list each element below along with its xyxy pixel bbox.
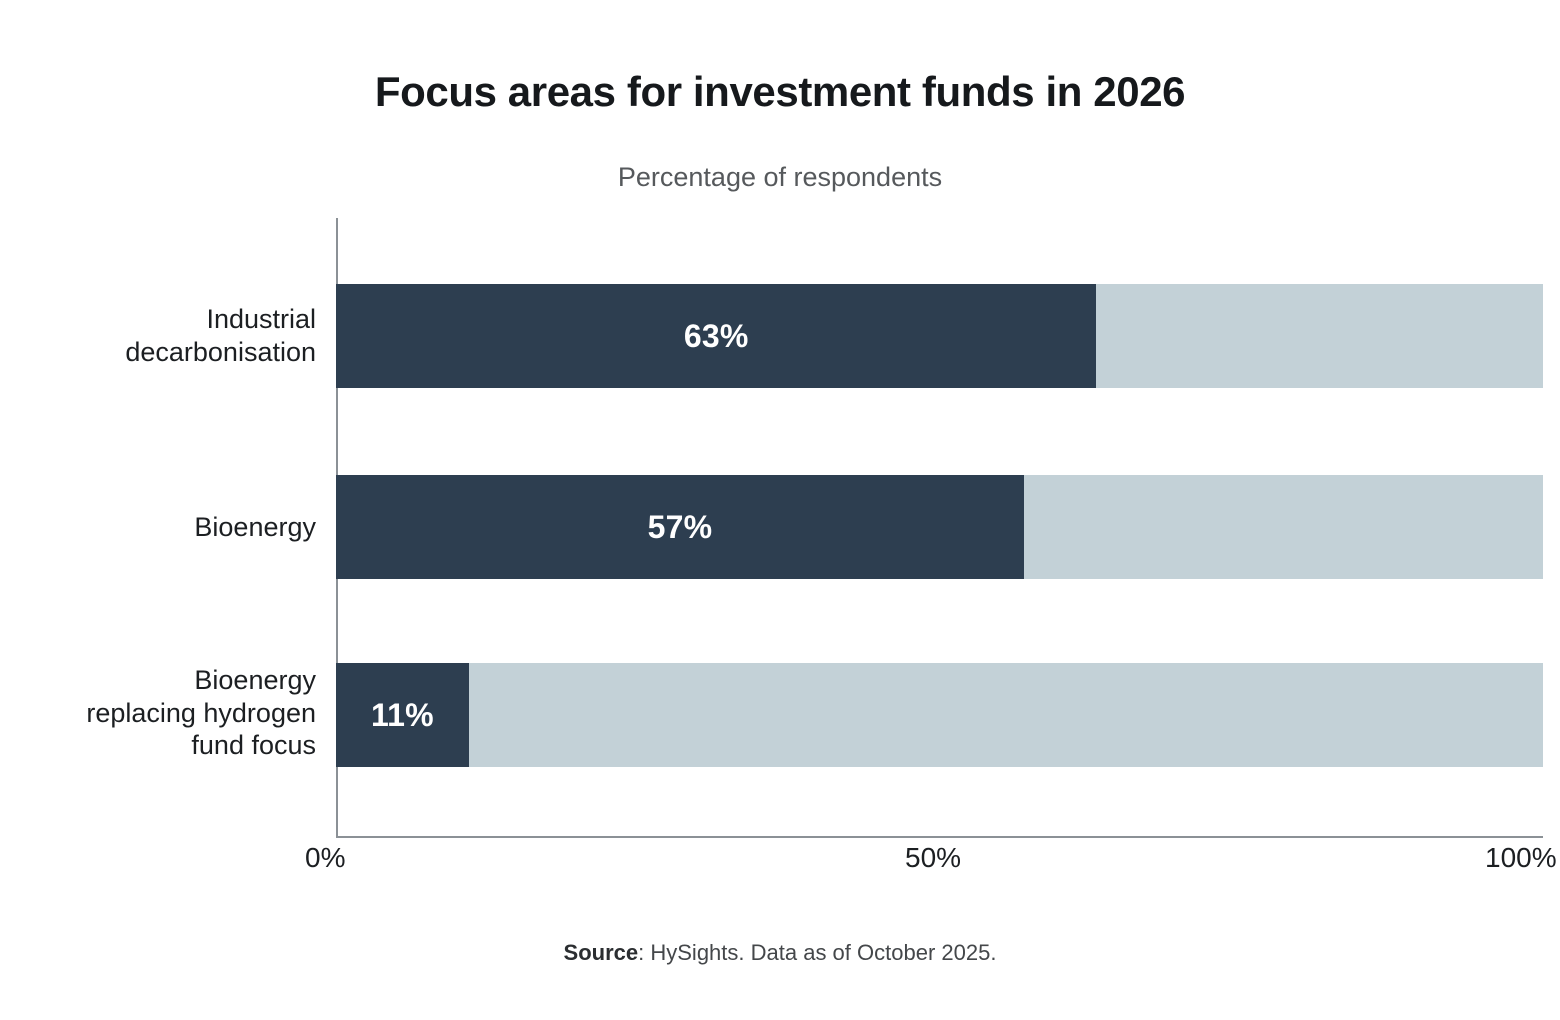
category-label-industrial-decarbonisation: Industrial decarbonisation (20, 284, 316, 388)
chart-figure: Focus areas for investment funds in 2026… (0, 0, 1560, 1020)
plot-area: 63% 57% 11% (336, 218, 1543, 838)
bar-value-label: 57% (648, 509, 713, 546)
bar-fill[interactable]: 57% (336, 475, 1024, 579)
bar-track (336, 663, 1543, 767)
chart-subtitle: Percentage of respondents (0, 162, 1560, 193)
source-text: : HySights. Data as of October 2025. (638, 940, 996, 965)
bar-fill[interactable]: 63% (336, 284, 1096, 388)
category-label-line: Industrial (20, 303, 316, 336)
x-tick-label-100: 100% (1485, 842, 1557, 874)
bar-row[interactable]: 11% (336, 663, 1543, 767)
category-label-bioenergy: Bioenergy (20, 475, 316, 579)
chart-title: Focus areas for investment funds in 2026 (0, 68, 1560, 115)
x-tick-label-0: 0% (305, 842, 345, 874)
bar-row[interactable]: 57% (336, 475, 1543, 579)
category-label-line: Bioenergy (20, 664, 316, 697)
bar-value-label: 63% (684, 318, 749, 355)
bar-fill[interactable]: 11% (336, 663, 469, 767)
bar-row[interactable]: 63% (336, 284, 1543, 388)
category-label-line: replacing hydrogen (20, 697, 316, 730)
bar-value-label: 11% (371, 697, 434, 734)
category-label-bioenergy-replacing-hydrogen-fund-focus: Bioenergy replacing hydrogen fund focus (20, 661, 316, 765)
x-axis-line (336, 836, 1543, 838)
category-label-line: decarbonisation (20, 336, 316, 369)
category-label-line: fund focus (20, 729, 316, 762)
source-note: Source: HySights. Data as of October 202… (0, 940, 1560, 966)
x-tick-label-50: 50% (905, 842, 961, 874)
source-label: Source (564, 940, 639, 965)
category-label-line: Bioenergy (20, 511, 316, 544)
